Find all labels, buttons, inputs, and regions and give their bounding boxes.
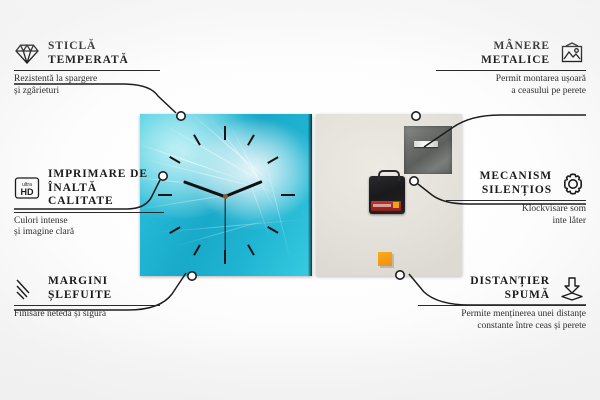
callout-margini-slefuite: MARGINI ȘLEFUITE Finisare netedă și sigu… xyxy=(14,275,162,321)
callout-mecanism-silentios: MECANISM SILENȚIOS Klockvisare som inte … xyxy=(446,170,586,227)
infographic-canvas: STICLĂ TEMPERATĂ Rezistentă la spargere … xyxy=(0,0,600,400)
clock-center-pin xyxy=(223,194,228,199)
callout-sticla-temperata: STICLĂ TEMPERATĂ Rezistentă la spargere … xyxy=(14,40,164,97)
callout-title: MARGINI ȘLEFUITE xyxy=(48,275,112,302)
callout-rule xyxy=(418,305,586,306)
callout-title: MÂNERE METALICE xyxy=(481,40,550,67)
ultra-hd-badge-icon: ultra HD xyxy=(14,176,40,200)
callout-subtitle: Klockvisare som inte låter xyxy=(446,204,586,227)
callout-manere-metalice: MÂNERE METALICE Permit montarea ușoară a… xyxy=(436,40,586,97)
callout-subtitle: Rezistentă la spargere și zgârieturi xyxy=(14,74,164,97)
callout-rule xyxy=(446,200,586,201)
callout-subtitle: Permite menținerea unei distanțe constan… xyxy=(418,309,586,332)
hanger-slot xyxy=(414,141,438,147)
clock-second-hand xyxy=(224,196,225,252)
foam-spacer xyxy=(378,252,392,266)
callout-subtitle: Permit montarea ușoară a ceasului pe per… xyxy=(436,74,586,97)
clock-marker xyxy=(224,126,226,140)
polished-edges-icon xyxy=(14,277,40,301)
callout-title: DISTANȚIER SPUMĂ xyxy=(470,275,550,302)
clock-mechanism xyxy=(369,176,405,214)
metal-hanger-plate xyxy=(404,126,452,174)
picture-frame-icon xyxy=(558,42,586,66)
callout-rule xyxy=(14,212,164,213)
svg-text:HD: HD xyxy=(21,187,34,197)
callout-title: STICLĂ TEMPERATĂ xyxy=(48,40,129,67)
mechanism-loop xyxy=(378,170,400,181)
callout-rule xyxy=(436,70,586,71)
callout-title: MECANISM SILENȚIOS xyxy=(480,170,552,197)
gear-icon xyxy=(560,171,586,197)
callout-rule xyxy=(14,70,160,71)
clock-marker xyxy=(281,194,295,196)
battery xyxy=(371,201,401,211)
callout-distantier-spuma: DISTANȚIER SPUMĂ Permite menținerea unei… xyxy=(418,275,586,332)
callout-subtitle: Culori intense și imagine clară xyxy=(14,216,166,239)
callout-subtitle: Finisare netedă și sigură xyxy=(14,309,162,321)
clock-back-panel xyxy=(316,114,462,276)
diamond-icon xyxy=(14,43,40,65)
glass-edge xyxy=(308,114,312,276)
callout-rule xyxy=(14,305,160,306)
callout-title: IMPRIMARE DE ÎNALTĂ CALITATE xyxy=(48,168,166,209)
down-arrow-layer-icon xyxy=(558,276,586,302)
callout-imprimare-inalta-calitate: ultra HD IMPRIMARE DE ÎNALTĂ CALITATE Cu… xyxy=(14,168,166,239)
product-image xyxy=(140,114,462,276)
